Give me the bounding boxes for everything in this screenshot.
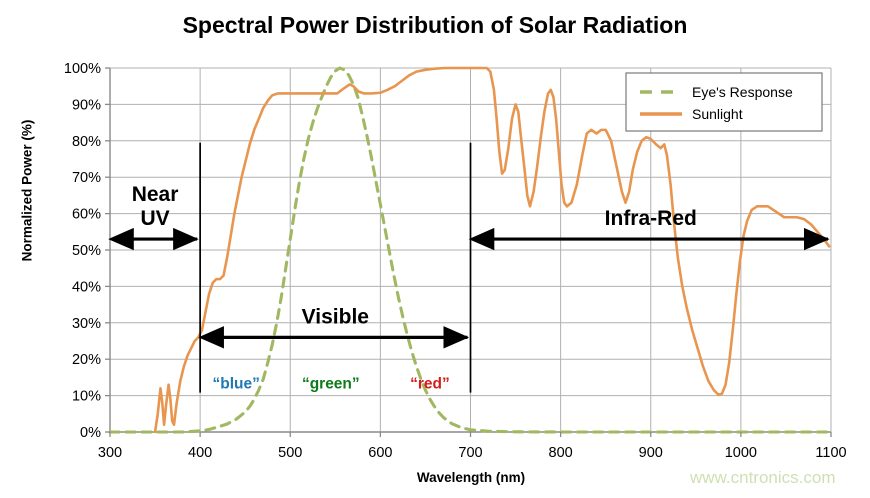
legend-box: [626, 73, 822, 131]
legend-label-2: Sunlight: [692, 106, 743, 122]
color-word: “green”: [302, 375, 360, 392]
x-tick-label: 1100: [815, 445, 846, 461]
y-tick-label: 40%: [72, 279, 101, 295]
y-tick-label: 100%: [64, 61, 101, 77]
color-word: “blue”: [212, 375, 259, 392]
chart-container: Spectral Power Distribution of Solar Rad…: [0, 0, 870, 498]
x-tick-label: 900: [639, 445, 663, 461]
y-tick-label: 30%: [72, 316, 101, 332]
label-visible: Visible: [302, 305, 369, 328]
x-tick-label: 700: [458, 445, 482, 461]
y-tick-label: 60%: [72, 207, 101, 223]
x-tick-label: 400: [188, 445, 212, 461]
x-tick-label: 600: [368, 445, 392, 461]
color-word: “red”: [410, 375, 450, 392]
y-tick-label: 20%: [72, 352, 101, 368]
chart-legend: Eye's ResponseSunlight: [626, 73, 822, 131]
y-tick-label: 50%: [72, 243, 101, 259]
x-tick-label: 800: [549, 445, 573, 461]
y-tick-label: 0%: [80, 425, 101, 441]
y-tick-label: 70%: [72, 170, 101, 186]
x-tick-label: 300: [98, 445, 122, 461]
x-tick-label: 1000: [725, 445, 757, 461]
x-tick-label: 500: [278, 445, 302, 461]
chart-plot: NearUVVisibleInfra-Red“blue”“green”“red”…: [0, 0, 870, 498]
legend-label-1: Eye's Response: [692, 84, 793, 100]
label-near-uv: Near: [132, 183, 179, 206]
y-tick-label: 80%: [72, 134, 101, 150]
label-near-uv-line2: UV: [140, 207, 169, 230]
y-tick-label: 90%: [72, 97, 101, 113]
y-tick-label: 10%: [72, 389, 101, 405]
label-infra-red: Infra-Red: [605, 207, 697, 230]
